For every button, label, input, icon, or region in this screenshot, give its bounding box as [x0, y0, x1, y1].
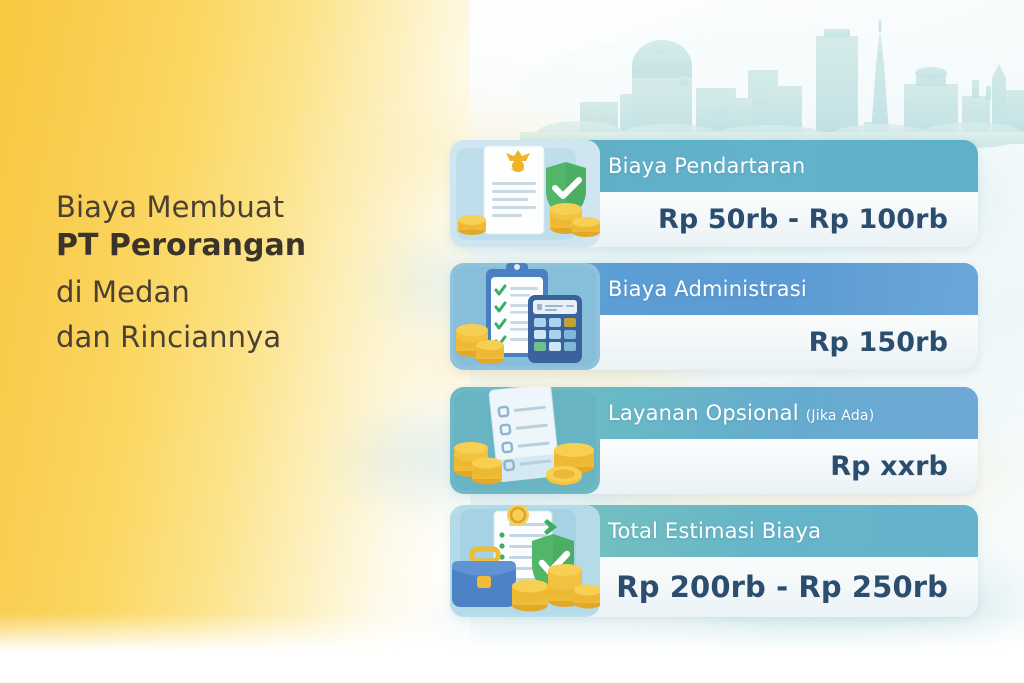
card-price: Rp 200rb - Rp 250rb [616, 570, 948, 604]
card-header-label-group: Layanan Opsional (Jika Ada) [608, 401, 874, 425]
card-artwork [450, 140, 600, 247]
headline-line-4: dan Rinciannya [56, 318, 386, 356]
card-price: Rp 50rb - Rp 100rb [658, 204, 948, 235]
headline-line-3: di Medan [56, 273, 386, 311]
cost-card[interactable]: Rp xxrb Layanan Opsional (Jika Ada) [450, 387, 978, 494]
card-header: Total Estimasi Biaya [584, 505, 978, 557]
card-title: Biaya Administrasi [608, 277, 807, 301]
card-body: Rp xxrb [584, 439, 978, 494]
background-bottom-fade [0, 613, 1024, 683]
calculator-icon [528, 295, 582, 363]
card-price: Rp 150rb [809, 327, 948, 358]
card-header-label-group: Biaya Pendartaran [608, 154, 812, 178]
headline-line-2: PT Perorangan [56, 226, 386, 266]
cost-card[interactable]: Rp 150rb Biaya Administrasi [450, 263, 978, 370]
card-header: Biaya Administrasi [584, 263, 978, 315]
card-header-label-group: Biaya Administrasi [608, 277, 814, 301]
card-artwork [450, 505, 600, 617]
medan-city-skyline-icon [520, 18, 1024, 153]
page-title: Biaya Membuat PT Perorangan di Medan dan… [56, 188, 386, 356]
cost-card[interactable]: Rp 50rb - Rp 100rb Biaya Pendartaran [450, 140, 978, 247]
infographic-canvas: Rp 50rb - Rp 100rb Biaya Pendartaran [0, 0, 1024, 683]
card-header-label-group: Total Estimasi Biaya [608, 519, 828, 543]
card-title: Biaya Pendartaran [608, 154, 805, 178]
card-body: Rp 200rb - Rp 250rb [584, 557, 978, 617]
card-artwork [450, 387, 600, 494]
card-header: Layanan Opsional (Jika Ada) [584, 387, 978, 439]
card-artwork [450, 263, 600, 370]
card-header: Biaya Pendartaran [584, 140, 978, 192]
card-title-note: (Jika Ada) [806, 408, 875, 424]
card-body: Rp 50rb - Rp 100rb [584, 192, 978, 247]
card-price: Rp xxrb [830, 451, 948, 482]
document-garuda-icon [484, 146, 544, 234]
cost-card[interactable]: Rp 200rb - Rp 250rb Total Estimasi Biaya [450, 505, 978, 617]
card-title: Total Estimasi Biaya [608, 519, 821, 543]
card-body: Rp 150rb [584, 315, 978, 370]
headline-line-1: Biaya Membuat [56, 188, 386, 226]
card-title: Layanan Opsional [608, 401, 799, 425]
